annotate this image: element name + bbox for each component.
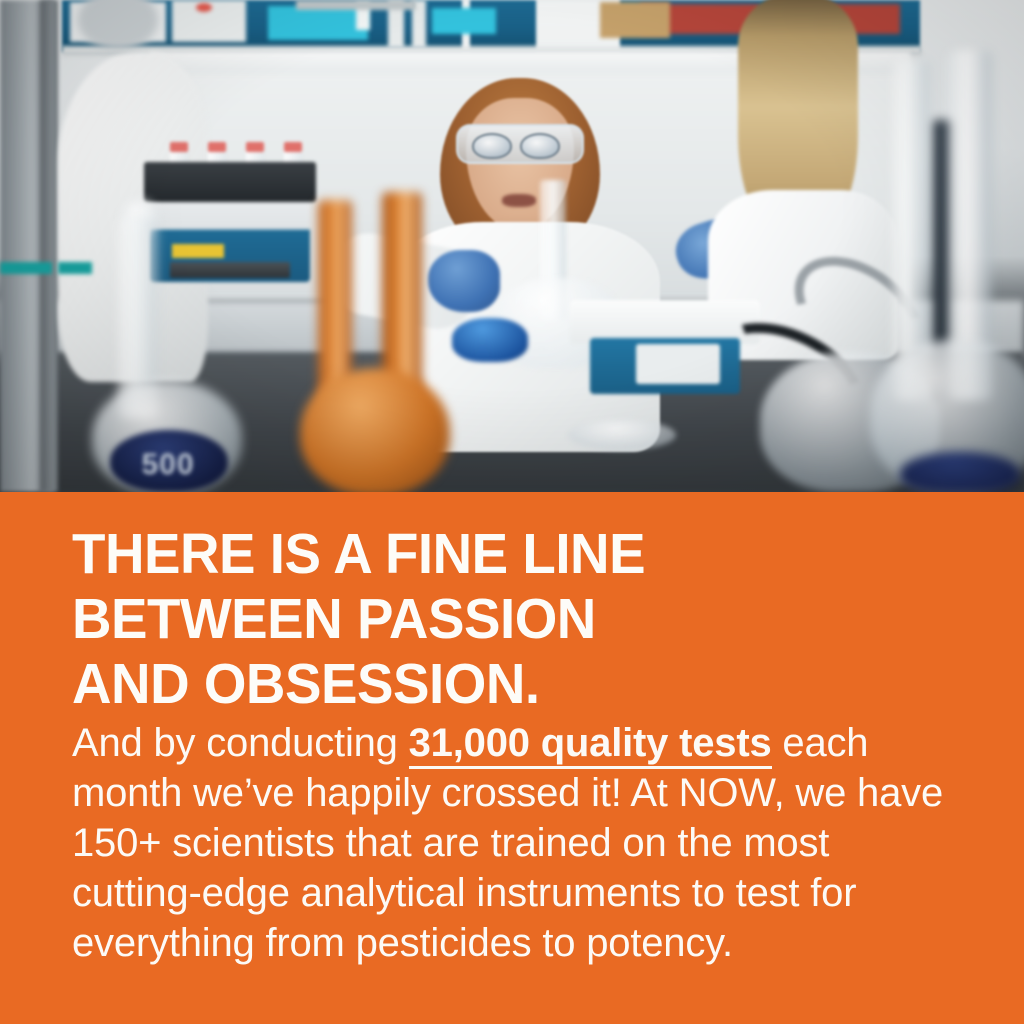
body-emphasis-quality-tests: 31,000 quality tests	[409, 721, 772, 769]
headline-line-1: THERE IS A FINE LINE	[72, 522, 936, 587]
page-title: THERE IS A FINE LINE BETWEEN PASSION AND…	[72, 522, 936, 717]
body-text-part1: And by conducting	[72, 721, 409, 765]
promo-card: 500 THERE IS A FINE LINE BETWEEN PASSION…	[0, 0, 1024, 1024]
lab-photo: 500	[0, 0, 1024, 492]
orange-text-panel: THERE IS A FINE LINE BETWEEN PASSION AND…	[0, 492, 1024, 1024]
headline-line-3: AND OBSESSION.	[72, 652, 936, 717]
body-paragraph: And by conducting 31,000 quality tests e…	[72, 718, 962, 968]
headline-line-2: BETWEEN PASSION	[72, 587, 936, 652]
photo-vignette	[0, 0, 1024, 492]
